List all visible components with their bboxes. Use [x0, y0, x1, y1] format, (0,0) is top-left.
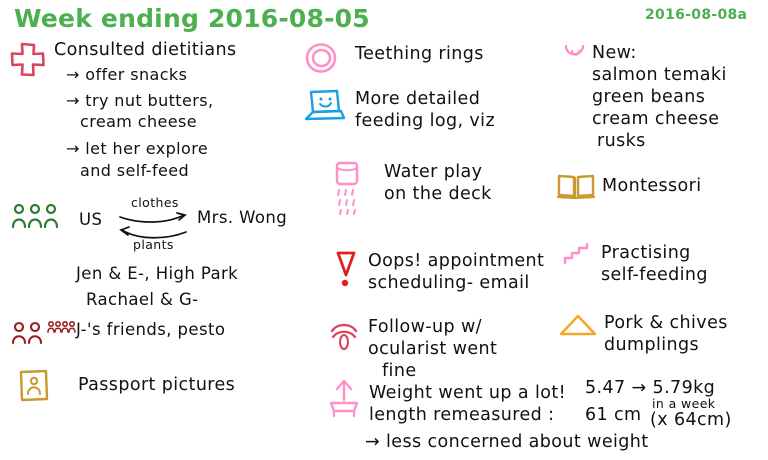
exchange-arrow-top-label: clothes [131, 196, 179, 211]
teething-rings-text: Teething rings [355, 44, 484, 65]
montessori-text: Montessori [602, 176, 702, 197]
new-foods-item-3: cream cheese [592, 109, 719, 130]
friends-line-1: Jen & E-, High Park [76, 264, 238, 283]
dumplings-line-2: dumplings [604, 335, 699, 356]
passport-badge-icon [17, 368, 51, 404]
oops-appointment-line-2: scheduling- email [368, 273, 530, 294]
new-foods-item-1: salmon temaki [592, 65, 727, 86]
dietitians-heading: Consulted dietitians [54, 40, 237, 61]
feeding-log-line-2: feeding log, viz [355, 111, 495, 132]
practising-line-2: self-feeding [601, 265, 708, 286]
water-play-line-1: Water play [384, 162, 482, 183]
passport-pictures-text: Passport pictures [78, 375, 235, 396]
dietitians-line-5: and self-feed [80, 162, 189, 181]
dietitians-line-4: → let her explore [66, 140, 208, 159]
water-play-line-2: on the deck [384, 184, 492, 205]
ocularist-line-2: ocularist went [368, 339, 497, 360]
practising-line-1: Practising [601, 243, 691, 264]
ocularist-line-3: fine [382, 361, 416, 382]
oops-appointment-line-1: Oops! appointment [368, 251, 544, 272]
dietitians-line-2: → try nut butters, [66, 92, 213, 111]
length-line-note: (x 64cm) [650, 410, 732, 431]
new-foods-heading: New: [592, 43, 637, 64]
eye-icon [329, 318, 359, 352]
length-line-values: 61 cm [585, 405, 642, 426]
dumplings-line-1: Pork & chives [604, 313, 728, 334]
new-foods-item-2: green beans [592, 87, 705, 108]
exchange-arrow-bottom-label: plants [133, 238, 174, 253]
new-foods-item-4: rusks [597, 131, 646, 152]
triangle-icon [558, 312, 598, 338]
exchange-right-label: Mrs. Wong [197, 208, 287, 227]
date-stamp: 2016-08-08a [645, 7, 747, 24]
length-line-main: length remeasured : [369, 405, 554, 426]
book-icon [556, 172, 596, 202]
j-friends-pesto-text: J-'s friends, pesto [76, 320, 225, 339]
exchange-left-label: US [79, 210, 102, 229]
weight-conclusion: → less concerned about weight [365, 432, 649, 453]
page-title: Week ending 2016-08-05 [14, 4, 370, 34]
teething-ring-icon [304, 42, 338, 74]
dietitians-line-1: → offer snacks [66, 66, 187, 85]
sprinkler-icon [330, 160, 364, 218]
dietitians-line-3: cream cheese [80, 113, 197, 132]
exclamation-icon [333, 250, 359, 290]
ocularist-line-1: Follow-up w/ [368, 317, 482, 338]
stairs-icon [563, 243, 593, 265]
three-people-icon [10, 202, 64, 230]
smiley-mouth-icon [562, 42, 588, 68]
laptop-smiley-icon [303, 88, 345, 124]
sketchnote-canvas: Week ending 2016-08-05 2016-08-08a Consu… [0, 0, 768, 460]
scale-up-arrow-icon [327, 378, 361, 420]
weight-line-1-main: Weight went up a lot! [369, 383, 566, 404]
two-people-and-small-people-icon [11, 320, 77, 346]
red-cross-icon [8, 41, 48, 79]
friends-line-2: Rachael & G- [86, 290, 199, 309]
feeding-log-line-1: More detailed [355, 89, 480, 110]
